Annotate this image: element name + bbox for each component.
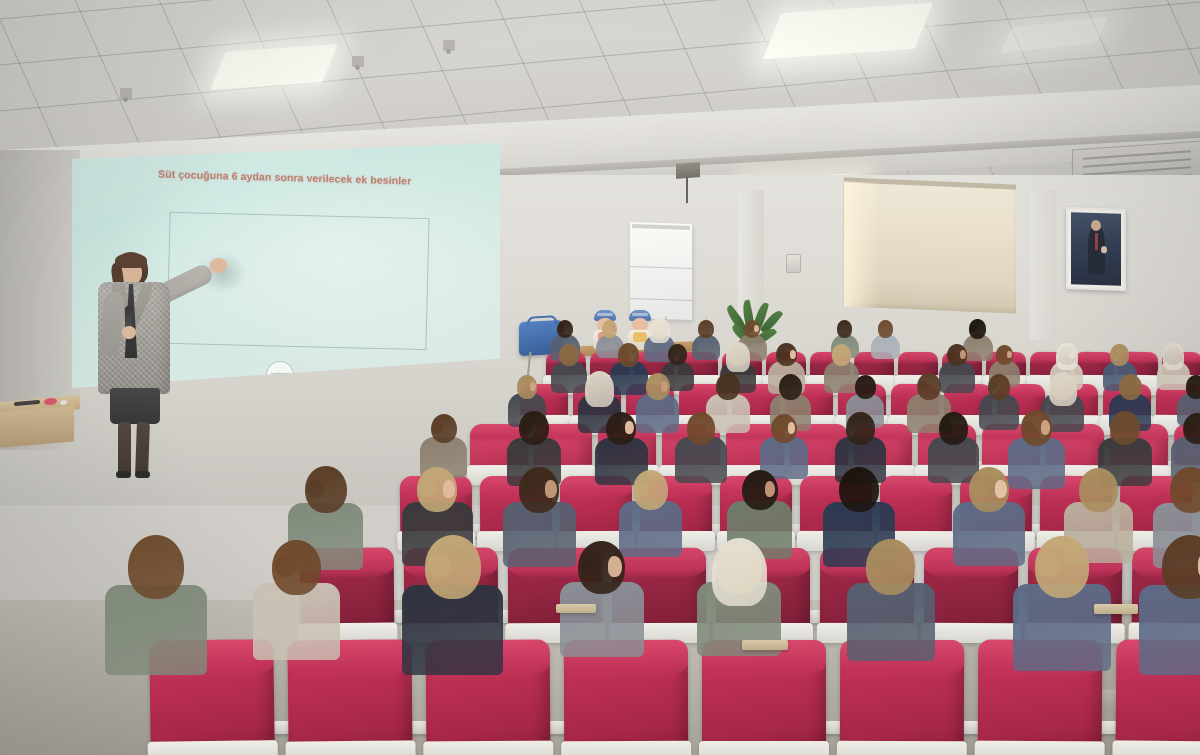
seat-shell [285,740,415,755]
audience-member [633,470,668,566]
presenter-shoe [135,471,150,478]
person-hair-bun [948,350,956,358]
portrait-tie [1095,233,1098,250]
person-head [559,344,579,367]
sprinkler-head [120,88,132,99]
audience-member [668,344,687,395]
audience-member [1164,345,1182,395]
seat-shell [699,741,829,755]
seat-shell [148,740,278,755]
audience-member [602,320,617,362]
audience-member [1162,535,1200,690]
person-head [878,320,894,338]
side-desk-body [0,405,74,448]
person-head [1110,411,1140,445]
presenter-leg [135,422,150,476]
person-face [790,350,796,359]
audience-member [878,320,894,363]
person-head [866,539,915,594]
audience-member [969,467,1009,576]
person-hair-bun [521,421,534,434]
audience-member [425,535,481,689]
seat-folding-tray[interactable] [556,604,596,613]
seat-shell [423,741,553,755]
person-face [655,481,666,497]
audience-member [1051,373,1075,438]
person-hair-bun [1184,422,1196,434]
person-hair-bun [432,423,443,434]
audience-member [988,374,1011,436]
presenter [92,252,208,478]
audience-member [1035,536,1090,685]
window-roller-blind[interactable] [843,181,1016,313]
audience-member [559,344,579,399]
portrait-image [1071,212,1121,286]
audience-member [832,344,852,398]
audience-member [128,535,184,689]
seat-folding-tray[interactable] [1094,604,1138,614]
person-hair-bun [634,482,649,497]
seminar-room-photo: Süt çocuğuna 6 aydan sonra verilecek ek … [0,0,1200,755]
audience-member [969,319,986,365]
audience-member [716,373,740,440]
person-hair-bun [620,350,629,359]
person-head [1186,375,1200,398]
person-headscarf [649,318,669,343]
person-head [839,467,879,512]
sprinkler-head [443,40,455,51]
audience-member [1021,410,1053,497]
person-hair-bun [275,556,295,576]
seat-shell [1112,740,1200,755]
audience-member [519,467,559,577]
audience-member [687,412,716,490]
audience-member [651,319,668,365]
flipchart-clip [632,224,690,230]
person-headscarf [1049,372,1077,407]
person-head [698,320,714,338]
person-head [687,412,716,444]
person-face [545,480,557,498]
person-face [1041,420,1051,434]
person-head [128,535,184,599]
audience-member [646,373,670,438]
framed-portrait [1066,207,1126,291]
audience-member [917,373,941,439]
person-headscarf [726,342,749,371]
seat-shell [975,741,1105,755]
audience-member [618,343,639,400]
person-hair-bun [307,480,325,498]
person-face [960,350,966,359]
seat-headrest [898,352,938,364]
sprinkler-head [352,56,364,67]
person-head [1170,467,1200,513]
audience-member [272,540,320,673]
audience-member [606,412,636,493]
wall-column [1030,190,1056,340]
person-hair-bun [558,325,565,332]
seat-folding-tray[interactable] [742,640,788,650]
seat-shell [837,741,967,755]
audience-member [939,412,968,490]
person-head [846,412,875,444]
person-face [995,480,1007,498]
audience-member [698,320,714,364]
person-head [837,320,852,337]
wall-speaker-bracket [676,162,700,179]
person-headscarf [1056,343,1078,370]
person-head [1079,468,1117,511]
portrait-hand [1101,246,1107,253]
person-hair-bun [1111,351,1119,359]
presenter-shoe [116,471,131,478]
person-head [855,375,876,399]
person-face [1007,351,1012,359]
person-hair-bun [833,350,841,358]
audience-member [947,344,967,398]
wall-sensor [786,254,801,273]
person-hair-bun [428,554,452,578]
presenter-left-hand [122,326,136,339]
seat-shell [561,741,691,755]
person-head [1119,374,1142,400]
audience-member [866,539,915,673]
person-headscarf [712,538,767,606]
flipchart-easel [630,222,692,320]
portrait-head [1091,220,1101,231]
person-hair-bun [971,481,988,498]
person-head [779,374,802,400]
presenter-skirt [110,388,160,424]
person-face [443,480,455,498]
blind-light-flare [844,181,880,308]
person-headscarf [585,371,613,406]
person-hair-bun [778,350,787,359]
person-head [668,344,687,365]
person-hair-bun [941,422,953,434]
person-headscarf [1163,343,1185,370]
presenter-leg [118,422,131,476]
